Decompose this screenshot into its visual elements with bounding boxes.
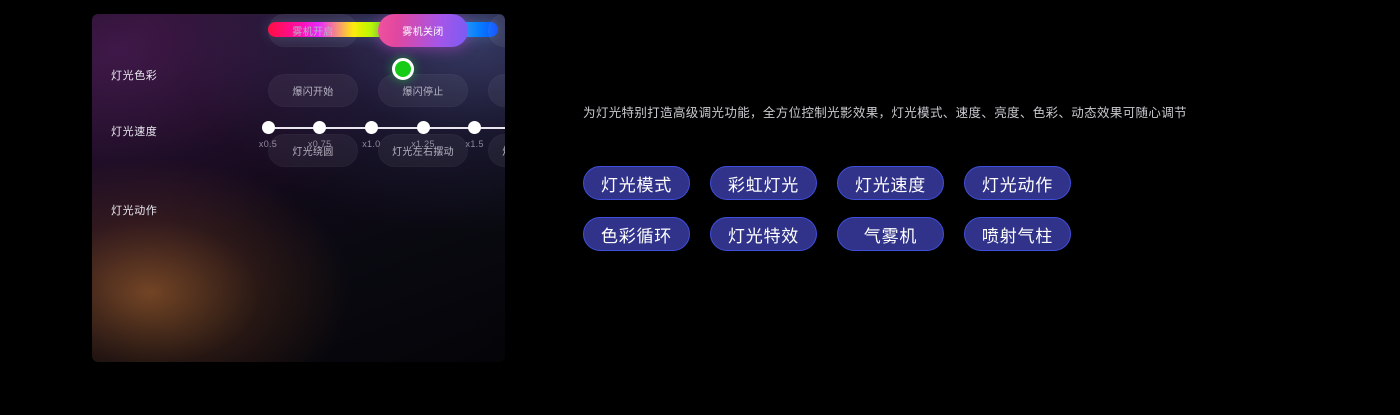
light-control-panel: 灯光色彩 彩虹循环 灯光速度 x0.5x0.75x1.0x1.25x1.5x1.… xyxy=(92,14,505,362)
feature-tag[interactable]: 灯光动作 xyxy=(964,166,1071,200)
action-button[interactable]: 雾机关闭 xyxy=(378,14,468,47)
action-button[interactable]: 喷射气柱 xyxy=(488,14,505,47)
feature-tag[interactable]: 灯光特效 xyxy=(710,217,817,251)
description-text: 为灯光特别打造高级调光功能，全方位控制光影效果，灯光模式、速度、亮度、色彩、动态… xyxy=(583,103,1373,123)
feature-tag[interactable]: 喷射气柱 xyxy=(964,217,1071,251)
action-button[interactable]: 灯光绕圆 xyxy=(268,134,358,167)
feature-tag[interactable]: 灯光速度 xyxy=(837,166,944,200)
light-speed-label: 灯光速度 xyxy=(111,123,157,139)
light-action-label: 灯光动作 xyxy=(111,202,157,218)
feature-tag[interactable]: 灯光模式 xyxy=(583,166,690,200)
feature-tag[interactable]: 气雾机 xyxy=(837,217,944,251)
feature-tag[interactable]: 彩虹灯光 xyxy=(710,166,817,200)
action-button[interactable]: 灯光左右摆动 xyxy=(378,134,468,167)
action-button[interactable]: 灯光波浪摆动 xyxy=(488,134,505,167)
action-button[interactable]: 爆闪开始 xyxy=(268,74,358,107)
action-button-grid: 雾机开启雾机关闭喷射气柱爆闪开始爆闪停止灯光绕8字灯光绕圆灯光左右摆动灯光波浪摆… xyxy=(268,14,505,167)
light-color-label: 灯光色彩 xyxy=(111,67,157,83)
description-section: 为灯光特别打造高级调光功能，全方位控制光影效果，灯光模式、速度、亮度、色彩、动态… xyxy=(583,103,1373,123)
action-button[interactable]: 雾机开启 xyxy=(268,14,358,47)
action-button[interactable]: 灯光绕8字 xyxy=(488,74,505,107)
feature-tag[interactable]: 色彩循环 xyxy=(583,217,690,251)
feature-tag-cloud: 灯光模式彩虹灯光灯光速度灯光动作色彩循环灯光特效气雾机喷射气柱 xyxy=(583,166,1143,251)
color-slider-knob[interactable] xyxy=(392,58,414,80)
action-button[interactable]: 爆闪停止 xyxy=(378,74,468,107)
